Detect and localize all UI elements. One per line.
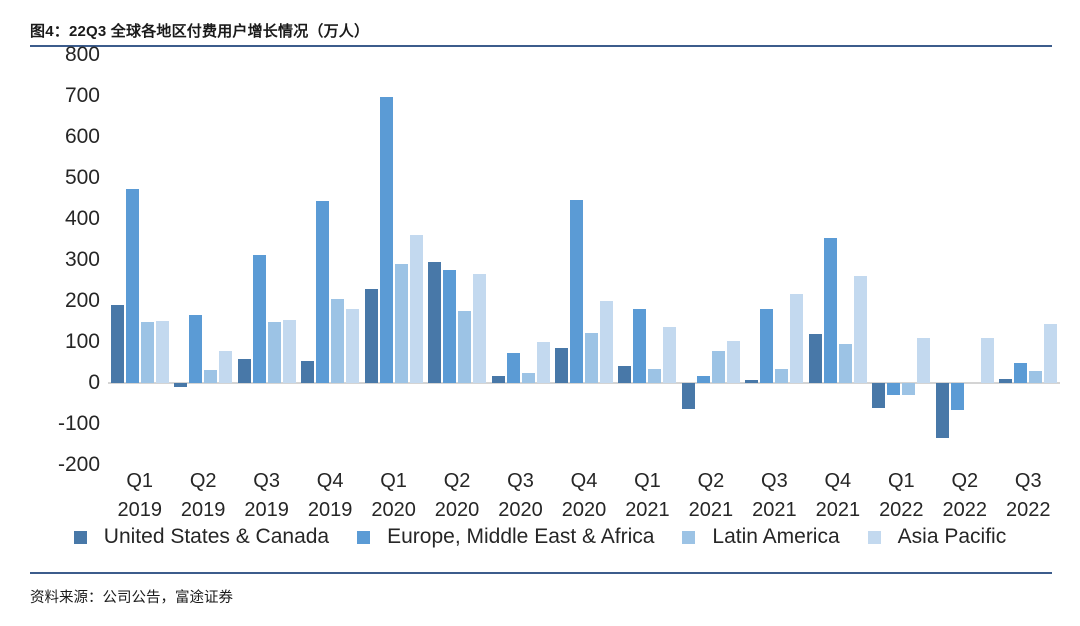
bar [775,369,788,383]
bar [156,321,169,383]
bar [555,348,568,383]
bar-group [425,55,488,465]
x-axis-quarter: Q2 [679,467,742,496]
bar [395,264,408,383]
bar [141,322,154,383]
x-axis-tick-label: Q12021 [616,467,679,525]
bar [283,320,296,383]
bar [111,305,124,383]
bars-container [108,55,1060,465]
y-axis-tick-label: 600 [65,125,100,149]
source-note: 资料来源：公司公告，富途证券 [30,586,233,607]
x-axis-tick-label: Q32020 [489,467,552,525]
figure-footer: 资料来源：公司公告，富途证券 [0,572,1080,626]
bar [443,270,456,383]
bar [473,274,486,383]
legend-swatch-icon [357,531,370,544]
legend-item[interactable]: Latin America [682,525,839,549]
bar [189,315,202,383]
bar [745,380,758,383]
bar [600,301,613,383]
bar [917,338,930,383]
bar [492,376,505,383]
legend-label: United States & Canada [104,525,329,549]
x-axis-quarter: Q2 [933,467,996,496]
chart-plot-area: 8007006005004003002001000-100-200 Q12019… [0,55,1080,510]
bar [428,262,441,383]
bar [697,376,710,383]
x-axis-tick-label: Q12019 [108,467,171,525]
bar [872,383,885,408]
bar [204,370,217,383]
x-axis-quarter: Q1 [616,467,679,496]
bar [790,294,803,383]
bar [809,334,822,383]
x-axis-tick-label: Q32019 [235,467,298,525]
x-axis-quarter: Q2 [171,467,234,496]
x-axis-tick-label: Q32021 [743,467,806,525]
bar-group [298,55,361,465]
legend-swatch-icon [682,531,695,544]
x-axis-quarter: Q1 [870,467,933,496]
bar-group [806,55,869,465]
legend-swatch-icon [74,531,87,544]
y-axis-tick-label: 800 [65,43,100,67]
x-axis-quarter: Q3 [489,467,552,496]
bar [902,383,915,395]
x-axis-tick-label: Q22022 [933,467,996,525]
bar [981,338,994,383]
bar [760,309,773,383]
x-axis-quarter: Q4 [552,467,615,496]
bar [507,353,520,383]
bar [570,200,583,383]
bar [365,289,378,383]
y-axis-tick-label: 0 [88,371,100,395]
bar [537,342,550,383]
x-axis-tick-label: Q22019 [171,467,234,525]
bar [1029,371,1042,383]
bar-group [362,55,425,465]
bar-group [489,55,552,465]
bar [1014,363,1027,384]
bar-group [235,55,298,465]
bar [824,238,837,383]
bar [1044,324,1057,383]
bar [585,333,598,383]
bar-group [616,55,679,465]
x-axis-tick-label: Q12022 [870,467,933,525]
x-axis-tick-label: Q22020 [425,467,488,525]
x-axis-quarter: Q2 [425,467,488,496]
x-axis-quarter: Q3 [235,467,298,496]
bar [839,344,852,383]
chart-legend: United States & CanadaEurope, Middle Eas… [0,518,1080,556]
bar-group [679,55,742,465]
bar [999,379,1012,383]
bar [219,351,232,383]
figure-header: 图4：22Q3 全球各地区付费用户增长情况（万人） [0,0,1080,47]
figure-title: 图4：22Q3 全球各地区付费用户增长情况（万人） [30,20,369,41]
x-axis-quarter: Q1 [362,467,425,496]
x-axis-quarter: Q1 [108,467,171,496]
x-axis-quarter: Q4 [298,467,361,496]
legend-swatch-icon [868,531,881,544]
bar [458,311,471,383]
bar [727,341,740,383]
legend-item[interactable]: United States & Canada [74,525,329,549]
x-axis-tick-label: Q12020 [362,467,425,525]
bar [238,359,251,383]
y-axis-tick-label: 700 [65,84,100,108]
legend-item[interactable]: Europe, Middle East & Africa [357,525,654,549]
bar [682,383,695,409]
x-axis-tick-label: Q32022 [997,467,1060,525]
x-axis-quarter: Q3 [743,467,806,496]
legend-item[interactable]: Asia Pacific [868,525,1007,549]
y-axis-tick-label: 400 [65,207,100,231]
bar [331,299,344,383]
bar-group [108,55,171,465]
bar [854,276,867,383]
bar [126,189,139,383]
header-divider [30,45,1052,47]
x-axis-tick-label: Q42021 [806,467,869,525]
bar-group [552,55,615,465]
bar [633,309,646,383]
bar [648,369,661,383]
bar [316,201,329,383]
x-axis-tick-label: Q42020 [552,467,615,525]
y-axis-tick-label: -200 [58,453,100,477]
bar [663,327,676,383]
y-axis: 8007006005004003002001000-100-200 [0,55,106,465]
bar-group [171,55,234,465]
bar [301,361,314,383]
x-axis-quarter: Q3 [997,467,1060,496]
bar [268,322,281,383]
bar [887,383,900,395]
bar-group [933,55,996,465]
legend-label: Europe, Middle East & Africa [387,525,654,549]
x-axis-tick-label: Q42019 [298,467,361,525]
bar [380,97,393,383]
bar [951,383,964,410]
bar-group [997,55,1060,465]
bar [522,373,535,383]
y-axis-tick-label: -100 [58,412,100,436]
x-axis-quarter: Q4 [806,467,869,496]
bar [410,235,423,383]
y-axis-tick-label: 500 [65,166,100,190]
bar [618,366,631,383]
y-axis-tick-label: 100 [65,330,100,354]
legend-label: Latin America [712,525,839,549]
bar-group [870,55,933,465]
bar [936,383,949,438]
footer-divider [30,572,1052,574]
bar [253,255,266,383]
bar-group [743,55,806,465]
bar [174,383,187,387]
legend-label: Asia Pacific [898,525,1007,549]
y-axis-tick-label: 300 [65,248,100,272]
bar [346,309,359,383]
y-axis-tick-label: 200 [65,289,100,313]
x-axis-tick-label: Q22021 [679,467,742,525]
bar [712,351,725,383]
